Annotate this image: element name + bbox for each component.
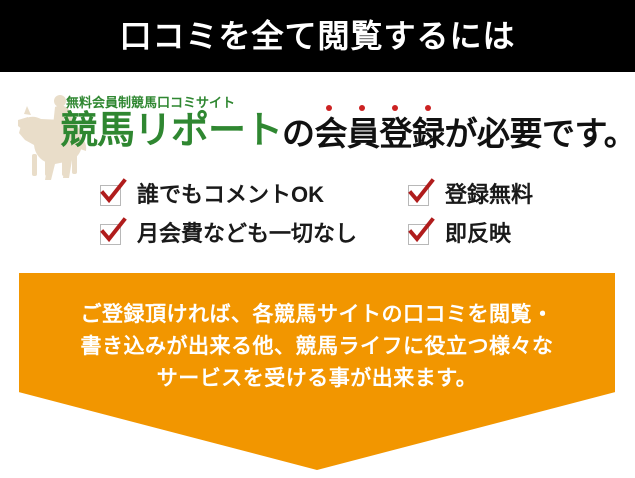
check-mark-icon [100,224,121,245]
check-mark-icon [100,185,121,206]
feature-label: 月会費なども一切なし [137,223,357,245]
lead-sentence: の会員登録が必要です。 [282,117,635,150]
page-header-bar: 口コミを全て閲覧するには [0,0,635,72]
emphasis-dot-icon [425,105,431,111]
site-tagline: 無料会員制競馬口コミサイト [66,96,635,109]
list-item: 登録無料 [408,184,533,206]
emphasis-dot-icon [326,105,332,111]
lead-block: 無料会員制競馬口コミサイト 競馬リポート の会員登録が必要です。 [0,72,635,177]
check-mark-icon [408,224,429,245]
list-item: 月会費なども一切なし [100,223,357,245]
lead-suffix: が必要です。 [445,115,635,152]
check-mark-icon [408,185,429,206]
promo-banner-text: ご登録頂ければ、各競馬サイトの口コミを閲覧・ 書き込みが出来る他、競馬ライフに役… [19,299,615,395]
lead-emphasis-wrap: 会員登録 [315,117,445,150]
lead-headline: 競馬リポート の会員登録が必要です。 [60,112,635,150]
list-item: 即反映 [408,223,511,245]
emphasis-dot-icon [392,105,398,111]
page-title: 口コミを全て閲覧するには [119,20,515,52]
list-item: 誰でもコメントOK [100,184,324,206]
lead-emphasis-text: 会員登録 [315,115,445,152]
promo-banner-line: サービスを受ける事が出来ます。 [19,363,615,395]
feature-label: 即反映 [445,223,511,245]
brand-name: 競馬リポート [60,112,282,150]
promo-banner: ご登録頂ければ、各競馬サイトの口コミを閲覧・ 書き込みが出来る他、競馬ライフに役… [19,273,615,470]
lead-prefix: の [282,115,315,152]
logo-text-wrap: 無料会員制競馬口コミサイト 競馬リポート の会員登録が必要です。 [60,96,635,150]
promo-banner-line: ご登録頂ければ、各競馬サイトの口コミを閲覧・ [19,299,615,331]
emphasis-dot-icon [359,105,365,111]
feature-label: 登録無料 [445,184,533,206]
feature-label: 誰でもコメントOK [137,184,324,206]
promo-banner-line: 書き込みが出来る他、競馬ライフに役立つ様々な [19,331,615,363]
feature-checklist: 誰でもコメントOK 登録無料 月会費なども一切なし 即反映 [0,184,635,264]
